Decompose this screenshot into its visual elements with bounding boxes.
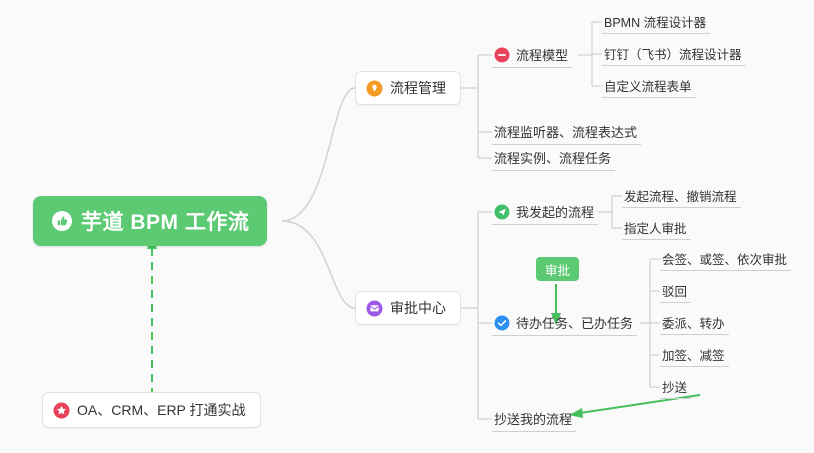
- node-reject[interactable]: 驳回: [660, 278, 691, 303]
- root-label: 芋道 BPM 工作流: [81, 206, 249, 236]
- check-circle-icon: [494, 315, 510, 331]
- node-label: 流程监听器、流程表达式: [494, 122, 637, 141]
- minus-circle-icon: [494, 47, 510, 63]
- node-label: 委派、转办: [662, 313, 725, 332]
- star-circle-icon: [53, 402, 70, 419]
- message-icon: [366, 300, 383, 317]
- location-pin-icon: [366, 80, 383, 97]
- node-label: 发起流程、撤销流程: [624, 186, 737, 205]
- node-carbon-copy[interactable]: 抄送: [660, 374, 691, 399]
- node-process-listener-expression[interactable]: 流程监听器、流程表达式: [492, 119, 641, 145]
- node-bpmn-designer[interactable]: BPMN 流程设计器: [602, 9, 710, 34]
- node-label: 加签、减签: [662, 345, 725, 364]
- node-process-model[interactable]: 流程模型: [492, 42, 572, 68]
- node-my-initiated-process[interactable]: 我发起的流程: [492, 199, 598, 225]
- node-label: 自定义流程表单: [604, 76, 692, 95]
- thumbs-up-icon: [51, 210, 73, 232]
- branch-node-process-management[interactable]: 流程管理: [355, 71, 461, 105]
- mindmap-canvas: 芋道 BPM 工作流 流程管理 流程模型 流程监听器、流程表达式 流程实例、流程…: [0, 0, 814, 453]
- node-label: 流程模型: [516, 45, 568, 64]
- node-cc-to-me-process[interactable]: 抄送我的流程: [492, 406, 576, 432]
- node-start-cancel-process[interactable]: 发起流程、撤销流程: [622, 183, 741, 208]
- bottom-note-integration[interactable]: OA、CRM、ERP 打通实战: [42, 392, 261, 428]
- node-dingtalk-feishu-designer[interactable]: 钉钉（飞书）流程设计器: [602, 41, 746, 66]
- node-label: 抄送: [662, 377, 687, 396]
- node-delegate-transfer[interactable]: 委派、转办: [660, 310, 729, 335]
- node-label: BPMN 流程设计器: [604, 12, 706, 31]
- node-process-instance-task[interactable]: 流程实例、流程任务: [492, 145, 615, 171]
- node-custom-process-form[interactable]: 自定义流程表单: [602, 73, 696, 98]
- node-label: 抄送我的流程: [494, 409, 572, 428]
- note-label: OA、CRM、ERP 打通实战: [77, 400, 246, 420]
- branch-node-approval-center[interactable]: 审批中心: [355, 291, 461, 325]
- node-todo-done-task[interactable]: 待办任务、已办任务: [492, 310, 637, 336]
- node-assigned-approver[interactable]: 指定人审批: [622, 215, 691, 240]
- node-countersign-or-sequential[interactable]: 会签、或签、依次审批: [660, 246, 791, 271]
- send-circle-icon: [494, 204, 510, 220]
- branch-label: 审批中心: [390, 298, 446, 318]
- branch-label: 流程管理: [390, 78, 446, 98]
- node-label: 驳回: [662, 281, 687, 300]
- root-node[interactable]: 芋道 BPM 工作流: [33, 196, 267, 246]
- node-label: 指定人审批: [624, 218, 687, 237]
- node-label: 待办任务、已办任务: [516, 313, 633, 332]
- node-label: 钉钉（飞书）流程设计器: [604, 44, 742, 63]
- node-label: 我发起的流程: [516, 202, 594, 221]
- node-label: 流程实例、流程任务: [494, 148, 611, 167]
- tag-label: 审批: [545, 260, 570, 279]
- node-label: 会签、或签、依次审批: [662, 249, 787, 268]
- node-add-remove-sign[interactable]: 加签、减签: [660, 342, 729, 367]
- floating-tag-approval[interactable]: 审批: [536, 257, 579, 281]
